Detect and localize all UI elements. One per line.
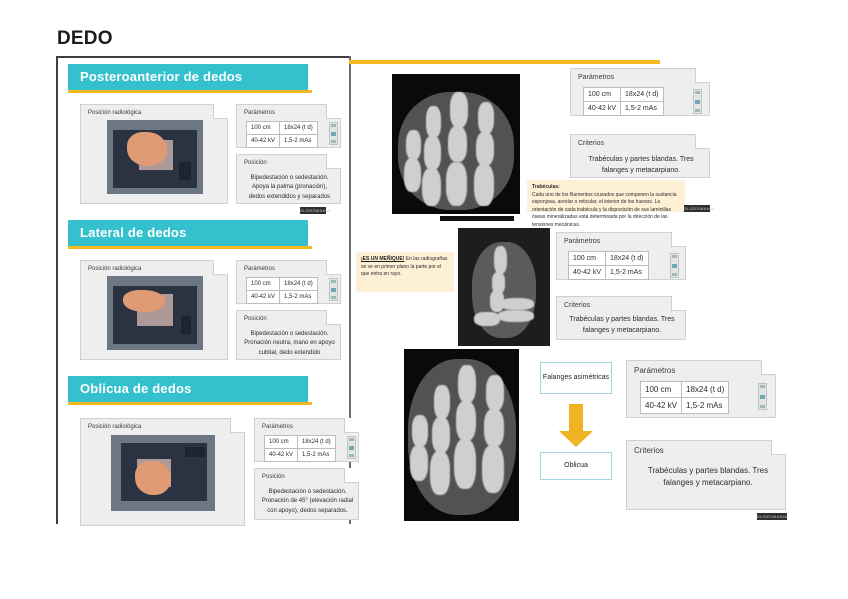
stepper-up-icon[interactable] (672, 255, 677, 258)
criteria-card-pa: Criterios Trabéculas y partes blandas. T… (570, 134, 710, 178)
stepper-up-icon[interactable] (695, 91, 700, 94)
slide-page: DEDO Posteroanterior de dedos Posición r… (0, 0, 848, 599)
positioning-photo (107, 276, 203, 350)
params-card: Parámetros 100 cm 18x24 (t d) 40-42 kV 1… (236, 260, 341, 304)
xray-edge-strip (440, 216, 514, 221)
table-row: 100 cm 18x24 (t d) (641, 382, 729, 398)
position-text: Bipedestación o sedestación. Apoya la pa… (243, 174, 336, 202)
stepper-down-icon[interactable] (331, 140, 336, 143)
stepper-down-icon[interactable] (760, 405, 765, 408)
cell-format: 18x24 (t d) (298, 436, 336, 449)
criteria-card-label: Criterios (578, 140, 604, 147)
cell-distance: 100 cm (641, 382, 682, 398)
photo-card-label: Posición radiológica (88, 110, 141, 116)
xray-lateral (458, 228, 550, 346)
fold-corner-icon (213, 104, 228, 119)
watermark-badge: SLIDESMANIA (684, 205, 710, 212)
cell-distance: 100 cm (569, 252, 606, 266)
photo-card-label: Posición radiológica (88, 266, 141, 272)
table-row: 100 cm 18x24 (t d) (584, 88, 664, 102)
cell-kv: 40-42 kV (584, 102, 621, 116)
params-table: 100 cm 18x24 (t d) 40-42 kV 1,5-2 mAs (568, 251, 649, 280)
params-table: 100 cm 18x24 (t d) 40-42 kV 1,5-2 mAs (246, 277, 318, 304)
fold-corner-icon (761, 360, 776, 375)
table-row: 100 cm 18x24 (t d) (247, 278, 318, 291)
cell-kv: 40-42 kV (247, 291, 280, 304)
table-row: 40-42 kV 1,5-2 mAs (265, 449, 336, 462)
fold-corner-icon (695, 134, 710, 149)
criteria-text: Trabéculas y partes blandas. Tres falang… (564, 315, 680, 337)
slide-banner-oblicua: Oblicua de dedos (68, 376, 308, 402)
fold-corner-icon (326, 104, 341, 119)
params-card-label: Parámetros (578, 74, 614, 81)
cell-format: 18x24 (t d) (280, 122, 318, 135)
position-card: Posición Bipedestación o sedestación. Pr… (236, 310, 341, 360)
criteria-card-label: Criterios (564, 302, 590, 309)
note-body: Cada uno de los filamentos cruzados que … (532, 192, 677, 228)
photo-card: Posición radiológica (80, 260, 228, 360)
cell-kv: 40-42 kV (641, 398, 682, 414)
stepper-up-icon[interactable] (331, 280, 336, 283)
xray-posteroanterior (392, 74, 520, 214)
stepper-control[interactable] (329, 278, 338, 301)
params-card-label: Parámetros (262, 424, 293, 430)
position-card: Posición Bipedestación o sedestación. Ap… (236, 154, 341, 204)
left-slides-panel: Posteroanterior de dedos Posición radiol… (56, 56, 349, 524)
params-card-label: Parámetros (244, 110, 275, 116)
stepper-down-icon[interactable] (695, 109, 700, 112)
params-card-lateral: Parámetros 100 cm 18x24 (t d) 40-42 kV 1… (556, 232, 686, 280)
cell-format: 18x24 (t d) (621, 88, 663, 102)
xray-oblicua (404, 349, 519, 521)
page-title: DEDO (57, 28, 113, 50)
banner-underline (68, 402, 312, 405)
banner-underline (68, 246, 312, 249)
cell-format: 18x24 (t d) (280, 278, 318, 291)
table-row: 100 cm 18x24 (t d) (247, 122, 318, 135)
photo-card: Posición radiológica (80, 418, 245, 526)
params-card-label: Parámetros (244, 266, 275, 272)
note-title: Trabéculas: (532, 184, 680, 192)
params-table: 100 cm 18x24 (t d) 40-42 kV 1,5-2 mAs (264, 435, 336, 462)
photo-card-label: Posición radiológica (88, 424, 141, 430)
fold-corner-icon (213, 260, 228, 275)
position-text: Bipedestación o sedestación. Pronación n… (243, 330, 336, 358)
criteria-text: Trabéculas y partes blandas. Tres falang… (579, 155, 703, 177)
fold-corner-icon (326, 310, 341, 325)
stepper-mid-icon[interactable] (672, 264, 677, 268)
stepper-control[interactable] (347, 436, 356, 459)
params-card-oblicua: Parámetros 100 cm 18x24 (t d) 40-42 kV 1… (626, 360, 776, 418)
cell-distance: 100 cm (247, 278, 280, 291)
stepper-down-icon[interactable] (672, 273, 677, 276)
fold-corner-icon (344, 418, 359, 433)
watermark-badge: SLIDESMANIA (757, 513, 787, 520)
stepper-mid-icon[interactable] (695, 100, 700, 104)
stepper-up-icon[interactable] (760, 385, 765, 388)
cell-mas: 1,5-2 mAs (280, 135, 318, 148)
note-trabeculas: Trabéculas: Cada uno de los filamentos c… (527, 180, 685, 212)
cell-kv: 40-42 kV (569, 266, 606, 280)
params-table: 100 cm 18x24 (t d) 40-42 kV 1,5-2 mAs (640, 381, 729, 414)
arrow-down-icon (559, 404, 593, 448)
stepper-up-icon[interactable] (349, 438, 354, 441)
stepper-mid-icon[interactable] (331, 288, 336, 292)
flow-from-box: Falanges asimétricas (540, 362, 612, 394)
cell-distance: 100 cm (247, 122, 280, 135)
cell-mas: 1,5-2 mAs (298, 449, 336, 462)
fold-corner-icon (344, 468, 359, 483)
watermark-badge: SLIDESMANIA (300, 207, 326, 214)
table-row: 40-42 kV 1,5-2 mAs (247, 135, 318, 148)
position-card-label: Posición (244, 160, 267, 166)
stepper-up-icon[interactable] (331, 124, 336, 127)
table-row: 40-42 kV 1,5-2 mAs (569, 266, 649, 280)
params-table: 100 cm 18x24 (t d) 40-42 kV 1,5-2 mAs (583, 87, 664, 116)
positioning-photo (111, 435, 215, 511)
cell-mas: 1,5-2 mAs (621, 102, 663, 116)
stepper-control[interactable] (693, 89, 702, 114)
slide-posteroanterior: Posteroanterior de dedos Posición radiol… (58, 64, 351, 216)
stepper-control[interactable] (670, 253, 679, 278)
slide-banner-lateral: Lateral de dedos (68, 220, 308, 246)
fold-corner-icon (695, 68, 710, 83)
criteria-text: Trabéculas y partes blandas. Tres falang… (637, 465, 779, 490)
table-row: 100 cm 18x24 (t d) (569, 252, 649, 266)
stepper-down-icon[interactable] (349, 454, 354, 457)
stepper-mid-icon[interactable] (760, 395, 765, 399)
stepper-mid-icon[interactable] (331, 132, 336, 136)
params-card-label: Parámetros (564, 238, 600, 245)
cell-mas: 1,5-2 mAs (682, 398, 729, 414)
table-row: 100 cm 18x24 (t d) (265, 436, 336, 449)
slide-oblicua: Oblicua de dedos Posición radiológica Pa… (58, 376, 351, 526)
fold-corner-icon (771, 440, 786, 455)
position-text: Bipedestación o sedestación. Pronación d… (261, 488, 354, 516)
criteria-card-label: Criterios (634, 446, 664, 455)
cell-mas: 1,5-2 mAs (280, 291, 318, 304)
stepper-control[interactable] (329, 122, 338, 145)
position-card: Posición Bipedestación o sedestación. Pr… (254, 468, 359, 520)
slide-banner-posteroanterior: Posteroanterior de dedos (68, 64, 308, 90)
cell-kv: 40-42 kV (247, 135, 280, 148)
params-card-pa: Parámetros 100 cm 18x24 (t d) 40-42 kV 1… (570, 68, 710, 116)
position-card-label: Posición (244, 316, 267, 322)
flow-to-box: Oblicua (540, 452, 612, 480)
fold-corner-icon (230, 418, 245, 433)
stepper-control[interactable] (758, 383, 767, 410)
criteria-card-lateral: Criterios Trabéculas y partes blandas. T… (556, 296, 686, 340)
cell-distance: 100 cm (265, 436, 298, 449)
photo-card: Posición radiológica (80, 104, 228, 204)
banner-underline (68, 90, 312, 93)
params-card-label: Parámetros (634, 366, 675, 375)
cell-kv: 40-42 kV (265, 449, 298, 462)
positioning-photo (107, 120, 203, 194)
cell-distance: 100 cm (584, 88, 621, 102)
stepper-down-icon[interactable] (331, 296, 336, 299)
fold-corner-icon (326, 154, 341, 169)
params-card: Parámetros 100 cm 18x24 (t d) 40-42 kV 1… (236, 104, 341, 148)
cell-mas: 1,5-2 mAs (606, 266, 648, 280)
yellow-top-rule (349, 60, 660, 64)
criteria-card-oblicua: Criterios Trabéculas y partes blandas. T… (626, 440, 786, 510)
cell-format: 18x24 (t d) (682, 382, 729, 398)
stepper-mid-icon[interactable] (349, 446, 354, 450)
params-table: 100 cm 18x24 (t d) 40-42 kV 1,5-2 mAs (246, 121, 318, 148)
position-card-label: Posición (262, 474, 285, 480)
fold-corner-icon (326, 260, 341, 275)
note-highlight: ¡ES UN MEÑIQUE! (361, 256, 404, 262)
note-menique: ¡ES UN MEÑIQUE! En las radiografías se v… (356, 252, 454, 292)
slide-lateral: Lateral de dedos Posición radiológica Pa… (58, 220, 351, 372)
fold-corner-icon (671, 296, 686, 311)
params-card: Parámetros 100 cm 18x24 (t d) 40-42 kV 1… (254, 418, 359, 462)
fold-corner-icon (671, 232, 686, 247)
cell-format: 18x24 (t d) (606, 252, 648, 266)
table-row: 40-42 kV 1,5-2 mAs (584, 102, 664, 116)
table-row: 40-42 kV 1,5-2 mAs (641, 398, 729, 414)
table-row: 40-42 kV 1,5-2 mAs (247, 291, 318, 304)
